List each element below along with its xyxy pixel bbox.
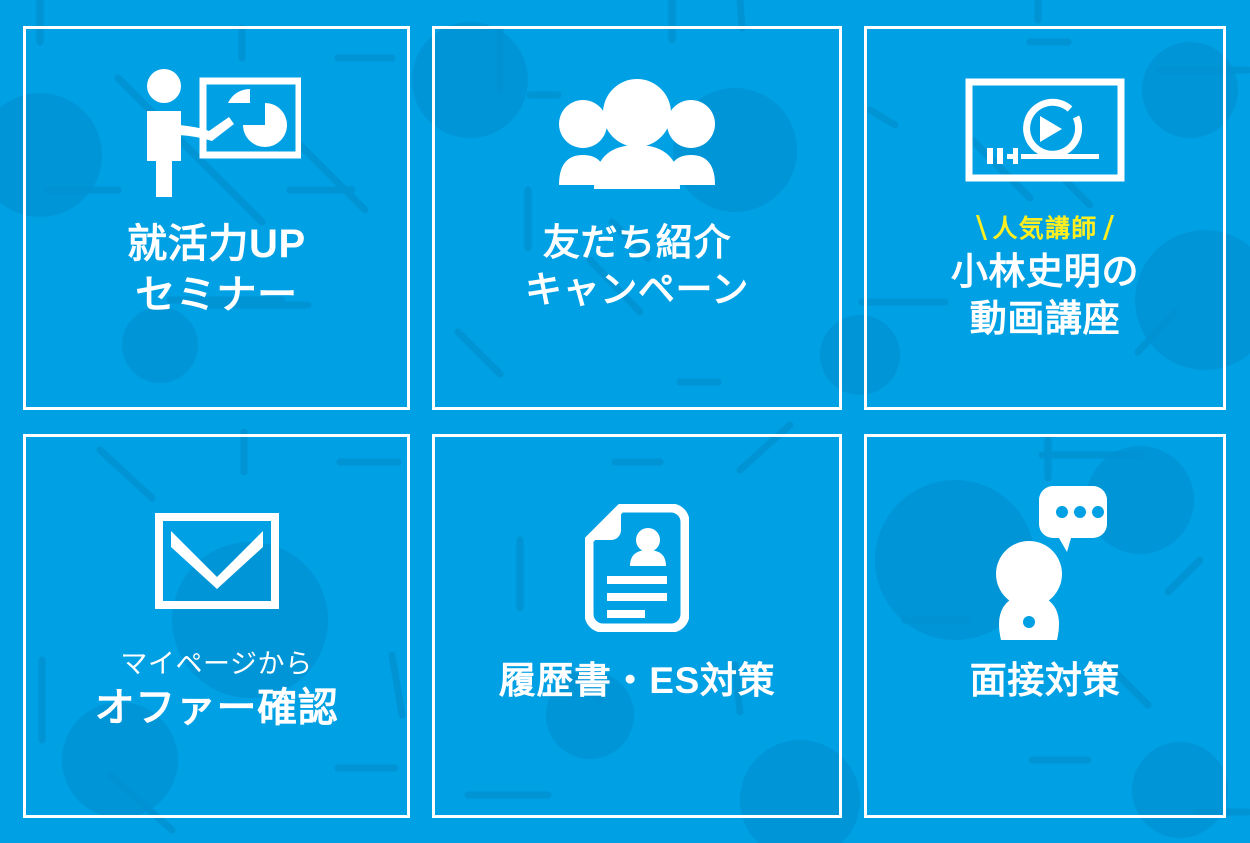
tile-label-line-2: セミナー — [127, 270, 306, 321]
badge-slash-right-icon — [1102, 215, 1113, 240]
tile-job-hunting-seminar[interactable]: 就活力UP セミナー — [23, 26, 410, 410]
tile-label: 友だち紹介 キャンペーン — [525, 219, 749, 314]
tile-label: 小林史明の 動画講座 — [951, 248, 1139, 343]
popular-instructor-badge: 人気講師 — [980, 209, 1109, 245]
badge-slash-left-icon — [976, 215, 987, 240]
tile-label-line-1: 友だち紹介 — [525, 219, 749, 266]
tile-label-line-1: 履歴書・ES対策 — [499, 657, 775, 704]
tile-label-line-1: 小林史明の — [951, 248, 1139, 295]
tile-friend-referral-campaign[interactable]: 友だち紹介 キャンペーン — [432, 26, 842, 410]
video-player-icon — [867, 29, 1223, 209]
tile-label: マイページから オファー確認 — [95, 647, 339, 734]
envelope-icon — [26, 437, 407, 647]
tile-label-line-1: 面接対策 — [970, 657, 1121, 704]
tile-label: 面接対策 — [970, 657, 1121, 704]
tile-label-line-2: 動画講座 — [951, 295, 1139, 342]
tile-kobayashi-video-course[interactable]: 人気講師 小林史明の 動画講座 — [864, 26, 1226, 410]
people-group-icon — [435, 29, 839, 219]
tile-label: 就活力UP セミナー — [127, 219, 306, 321]
presenter-chart-icon — [26, 29, 407, 219]
tile-resume-es-measures[interactable]: 履歴書・ES対策 — [432, 434, 842, 818]
tile-label: 履歴書・ES対策 — [499, 657, 775, 704]
badge-label: 人気講師 — [992, 209, 1097, 245]
tile-label-line-2: キャンペーン — [525, 266, 749, 313]
feature-tile-grid: 就活力UP セミナー 友だち紹介 キャンペーン — [0, 0, 1250, 843]
tile-label-line-2: オファー確認 — [95, 683, 339, 734]
tile-label-line-1: 就活力UP — [127, 219, 306, 270]
tile-interview-measures[interactable]: 面接対策 — [864, 434, 1226, 818]
tile-label-line-1: マイページから — [95, 647, 339, 682]
resume-document-icon — [435, 437, 839, 657]
interview-person-icon — [867, 437, 1223, 657]
tile-offer-check-from-mypage[interactable]: マイページから オファー確認 — [23, 434, 410, 818]
